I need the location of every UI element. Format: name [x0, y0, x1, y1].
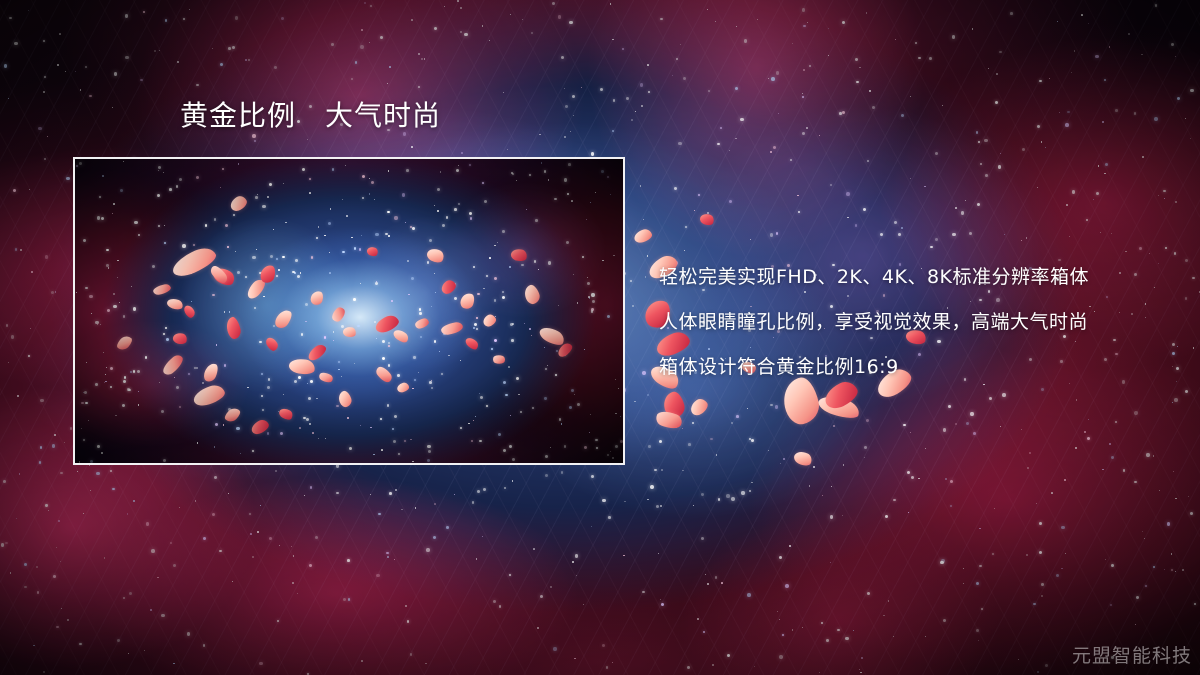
petal	[654, 408, 684, 433]
panel-image	[75, 159, 623, 463]
petal	[688, 396, 711, 418]
panel-vignette	[75, 159, 623, 463]
petal	[661, 390, 687, 420]
page-title: 黄金比例 大气时尚	[180, 102, 441, 130]
body-copy-block: 轻松完美实现FHD、2K、4K、8K标准分辨率箱体 人体眼睛瞳孔比例，享受视觉效…	[659, 255, 1179, 390]
petal	[699, 212, 716, 227]
framed-image-panel	[73, 157, 625, 465]
body-line-1: 轻松完美实现FHD、2K、4K、8K标准分辨率箱体	[659, 255, 1179, 300]
petal	[633, 228, 654, 245]
presentation-slide: 黄金比例 大气时尚 轻松完美实现FHD、2K、4K、8K标准分辨率箱体 人体眼睛…	[0, 0, 1200, 675]
petal	[816, 392, 862, 422]
petal	[792, 449, 814, 468]
body-line-2: 人体眼睛瞳孔比例，享受视觉效果，高端大气时尚	[659, 300, 1179, 345]
body-line-3: 箱体设计符合黄金比例16:9	[659, 345, 1179, 390]
watermark-logo-text: 元盟智能科技	[1072, 646, 1192, 667]
